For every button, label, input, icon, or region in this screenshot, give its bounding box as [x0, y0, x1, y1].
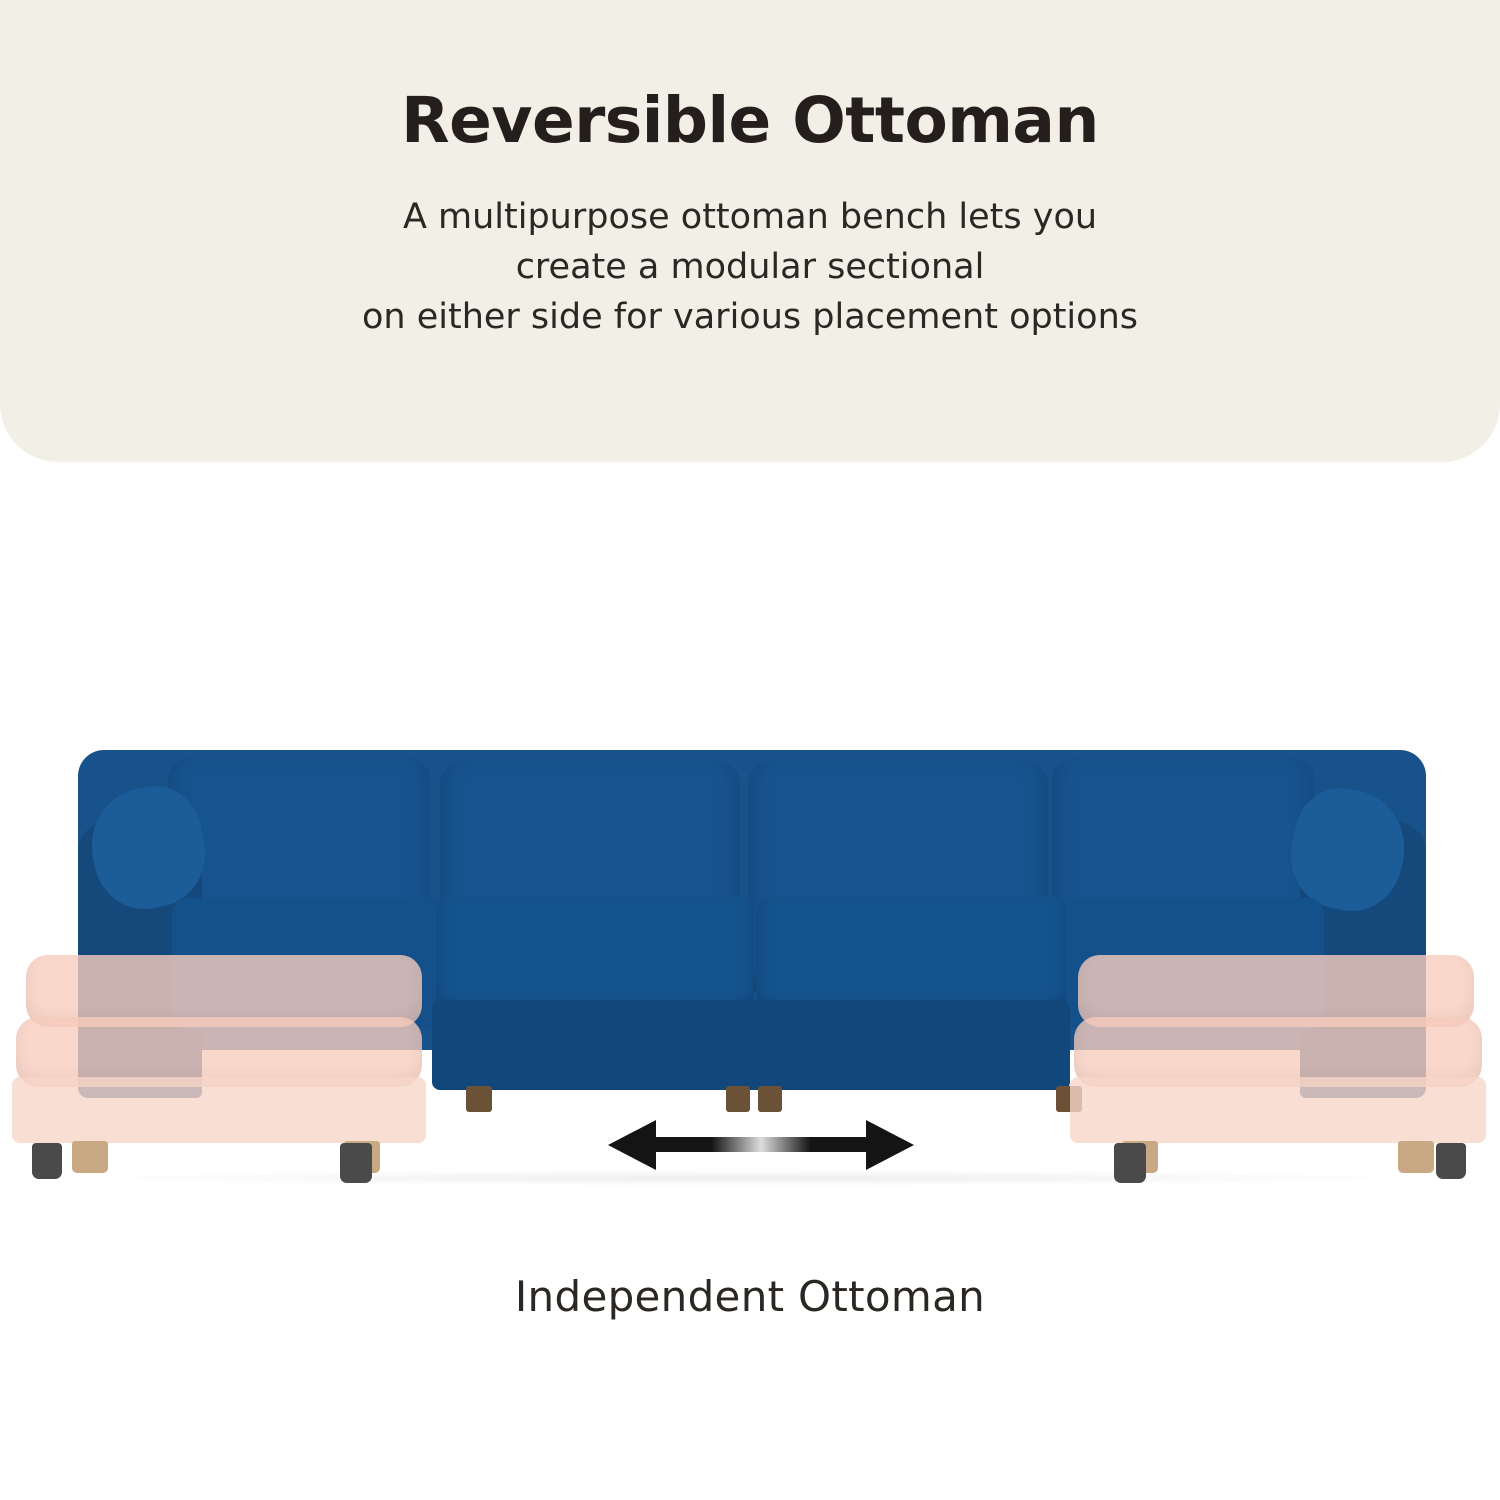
ottoman-foot	[1114, 1143, 1146, 1183]
ottoman-base	[12, 1077, 426, 1143]
sofa-leg	[758, 1086, 782, 1112]
seat-cushion	[436, 896, 754, 1016]
seat-cushion	[756, 896, 1066, 1016]
product-image	[0, 700, 1500, 1260]
double-headed-horizontal-arrow-icon	[608, 1114, 914, 1176]
subtitle-line-3: on either side for various placement opt…	[0, 293, 1500, 343]
banner-content: Reversible Ottoman A multipurpose ottoma…	[0, 0, 1500, 342]
ottoman-right	[1068, 955, 1492, 1195]
sofa-seat-base	[432, 1000, 1070, 1090]
ottoman-foot	[1436, 1143, 1466, 1179]
image-caption: Independent Ottoman	[0, 1272, 1500, 1321]
sofa-leg	[726, 1086, 750, 1112]
ottoman-leg	[1398, 1141, 1434, 1173]
subtitle-line-1: A multipurpose ottoman bench lets you	[0, 193, 1500, 243]
banner-subtitle: A multipurpose ottoman bench lets you cr…	[0, 193, 1500, 342]
subtitle-line-2: create a modular sectional	[0, 243, 1500, 293]
ottoman-left	[8, 955, 428, 1195]
header-banner: Reversible Ottoman A multipurpose ottoma…	[0, 0, 1500, 462]
double-arrow-annotation	[608, 1114, 914, 1176]
sofa-leg	[466, 1086, 492, 1112]
ottoman-foot	[32, 1143, 62, 1179]
page-title: Reversible Ottoman	[0, 86, 1500, 155]
ottoman-base	[1070, 1077, 1486, 1143]
ottoman-foot	[340, 1143, 372, 1183]
ottoman-leg	[72, 1141, 108, 1173]
